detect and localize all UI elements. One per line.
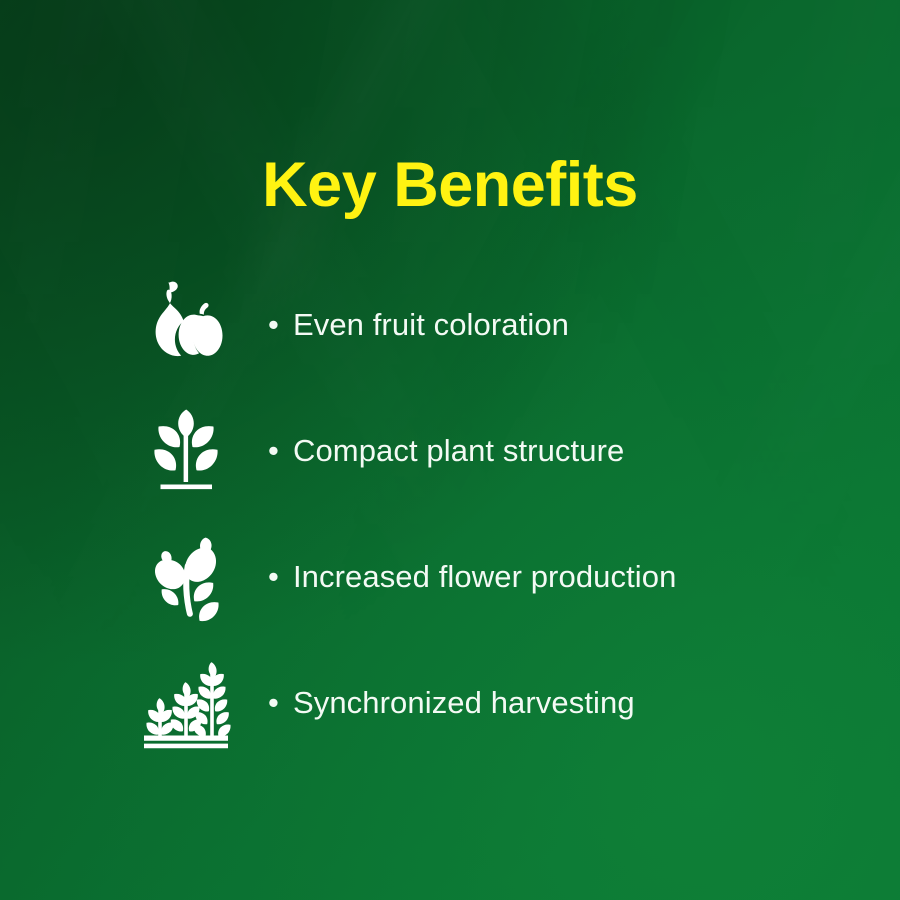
slide-content: Key Benefits	[0, 0, 900, 900]
slide-canvas: Key Benefits	[0, 0, 900, 900]
benefit-text: • Increased flower production	[268, 559, 676, 595]
list-item: • Even fruit coloration	[0, 262, 900, 388]
list-item: • Increased flower production	[0, 514, 900, 640]
list-item: • Compact plant structure	[0, 388, 900, 514]
bullet-icon: •	[268, 687, 279, 718]
bullet-icon: •	[268, 561, 279, 592]
page-title: Key Benefits	[0, 154, 900, 217]
leafy-seedling-icon	[126, 399, 246, 503]
benefit-text: • Synchronized harvesting	[268, 685, 635, 721]
list-item: • Synchronized harvesting	[0, 640, 900, 766]
bullet-icon: •	[268, 435, 279, 466]
benefit-text: • Even fruit coloration	[268, 307, 569, 343]
benefit-label: Even fruit coloration	[293, 307, 569, 343]
flower-buds-icon	[126, 525, 246, 629]
bullet-icon: •	[268, 309, 279, 340]
crop-field-rows-icon	[126, 651, 246, 755]
benefit-label: Synchronized harvesting	[293, 685, 635, 721]
pear-and-apple-icon	[126, 273, 246, 377]
benefit-label: Compact plant structure	[293, 433, 624, 469]
benefit-label: Increased flower production	[293, 559, 677, 595]
benefit-text: • Compact plant structure	[268, 433, 624, 469]
benefits-list: • Even fruit coloration	[0, 262, 900, 766]
